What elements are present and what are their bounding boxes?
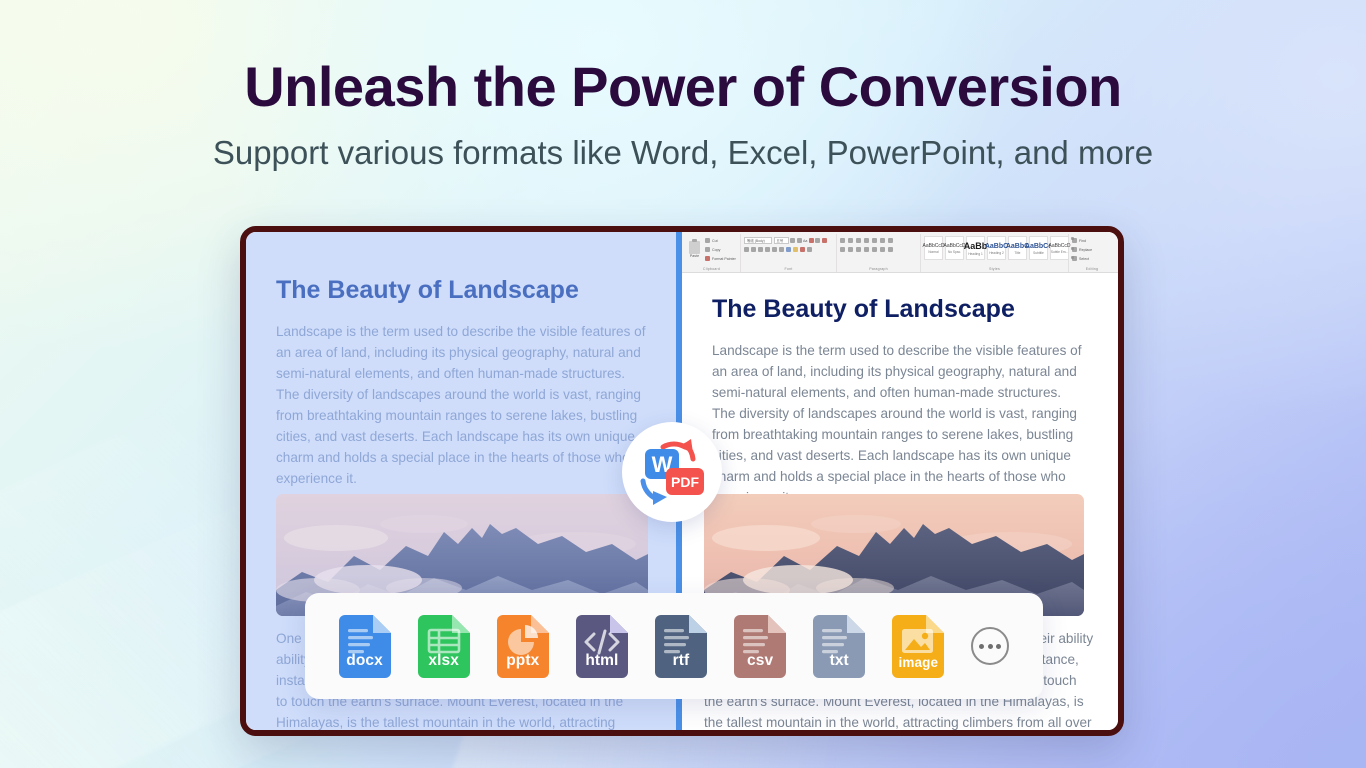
text-highlight-color-icon[interactable] — [793, 247, 798, 252]
increase-indent-icon[interactable] — [872, 238, 877, 243]
align-left-icon[interactable] — [840, 247, 845, 252]
select-button[interactable]: Select — [1072, 254, 1112, 263]
replace-icon — [1072, 247, 1077, 252]
copy-icon — [705, 247, 710, 252]
find-label: Find — [1079, 239, 1086, 243]
show-marks-icon[interactable] — [888, 238, 893, 243]
paste-button[interactable]: Paste — [686, 236, 703, 263]
format-icon-rtf[interactable]: rtf — [655, 615, 707, 678]
line-spacing-icon[interactable] — [872, 247, 877, 252]
paste-label: Paste — [690, 254, 699, 258]
style-name: Subtitle — [1033, 251, 1044, 255]
replace-label: Replace — [1079, 248, 1092, 252]
change-case-label[interactable]: Aa — [803, 239, 807, 243]
page-subtitle: Support various formats like Word, Excel… — [0, 135, 1366, 171]
style-name: Title — [1015, 251, 1021, 255]
grow-font-icon[interactable] — [790, 238, 795, 243]
format-label: image — [892, 655, 944, 670]
sort-icon[interactable] — [880, 238, 885, 243]
ribbon-group-label-clipboard: Clipboard — [683, 267, 740, 271]
numbering-icon[interactable] — [848, 238, 853, 243]
align-center-icon[interactable] — [848, 247, 853, 252]
ellipsis-dot — [996, 644, 1001, 649]
format-label: txt — [813, 652, 865, 670]
search-icon — [1072, 238, 1077, 243]
clear-formatting-icon[interactable] — [809, 238, 814, 243]
document-title-left: The Beauty of Landscape — [276, 276, 646, 305]
bold-icon[interactable] — [744, 247, 749, 252]
hero-section: Unleash the Power of Conversion Support … — [0, 0, 1366, 171]
format-icon-html[interactable]: html — [576, 615, 628, 678]
superscript-icon[interactable] — [779, 247, 784, 252]
format-icon-txt[interactable]: txt — [813, 615, 865, 678]
ellipsis-dot — [979, 644, 984, 649]
bullets-icon[interactable] — [840, 238, 845, 243]
document-paragraph-left: Landscape is the term used to describe t… — [276, 321, 646, 489]
format-label: rtf — [655, 652, 707, 670]
style-sample: AaBbCcD — [944, 244, 966, 249]
style-item-heading-2[interactable]: AaBbC Heading 2 — [987, 236, 1006, 260]
scissors-icon — [705, 238, 710, 243]
character-border-icon[interactable] — [822, 238, 827, 243]
format-icon-docx[interactable]: docx — [339, 615, 391, 678]
cut-button[interactable]: Cut — [705, 236, 736, 245]
ribbon-group-label-editing: Editing — [1069, 267, 1115, 271]
style-name: No Spac. — [948, 250, 961, 254]
copy-label: Copy — [712, 248, 720, 252]
format-icon-image[interactable]: image — [892, 615, 944, 678]
subscript-icon[interactable] — [772, 247, 777, 252]
shading-icon[interactable] — [880, 247, 885, 252]
find-button[interactable]: Find — [1072, 236, 1112, 245]
borders-icon[interactable] — [888, 247, 893, 252]
underline-icon[interactable] — [758, 247, 763, 252]
supported-formats-bar: docx xlsx pptx — [305, 593, 1043, 699]
format-painter-label: Format Painter — [712, 257, 736, 261]
style-sample: AaBbCcD — [923, 244, 945, 249]
style-item-heading-1[interactable]: AaBb Heading 1 — [966, 236, 985, 260]
font-color-icon[interactable] — [800, 247, 805, 252]
style-sample: AaBbCcD — [1049, 244, 1071, 249]
paste-icon — [689, 241, 700, 254]
cut-label: Cut — [712, 239, 718, 243]
more-formats-button[interactable] — [971, 627, 1009, 665]
justify-icon[interactable] — [864, 247, 869, 252]
style-item-normal[interactable]: AaBbCcD Normal — [924, 236, 943, 260]
shrink-font-icon[interactable] — [797, 238, 802, 243]
ribbon-group-label-font: Font — [741, 267, 836, 271]
style-name: Heading 2 — [989, 251, 1004, 255]
multilevel-list-icon[interactable] — [856, 238, 861, 243]
ribbon-group-styles: AaBbCcD Normal AaBbCcD No Spac. AaBb Hea… — [921, 234, 1069, 272]
style-name: Subtle Em... — [1051, 250, 1068, 254]
ellipsis-dot — [988, 644, 993, 649]
format-label: pptx — [497, 652, 549, 670]
style-item-no-spacing[interactable]: AaBbCcD No Spac. — [945, 236, 964, 260]
character-shading-icon[interactable] — [807, 247, 812, 252]
style-item-subtle-emphasis[interactable]: AaBbCcD Subtle Em... — [1050, 236, 1069, 260]
select-label: Select — [1079, 257, 1089, 261]
replace-button[interactable]: Replace — [1072, 245, 1112, 254]
format-icon-xlsx[interactable]: xlsx — [418, 615, 470, 678]
ribbon-group-label-styles: Styles — [921, 267, 1068, 271]
font-name-select[interactable]: 等线 (Body) — [744, 237, 772, 244]
style-name: Heading 1 — [968, 252, 983, 256]
svg-text:PDF: PDF — [671, 474, 699, 490]
select-icon — [1072, 256, 1077, 261]
style-name: Normal — [928, 250, 938, 254]
format-label: docx — [339, 652, 391, 670]
format-label: csv — [734, 652, 786, 670]
format-icon-pptx[interactable]: pptx — [497, 615, 549, 678]
copy-button[interactable]: Copy — [705, 245, 736, 254]
format-painter-button[interactable]: Format Painter — [705, 254, 736, 263]
ribbon-group-label-paragraph: Paragraph — [837, 267, 920, 271]
word-ribbon: Paste Cut Copy — [682, 232, 1118, 273]
text-effects-icon[interactable] — [786, 247, 791, 252]
format-icon-csv[interactable]: csv — [734, 615, 786, 678]
decrease-indent-icon[interactable] — [864, 238, 869, 243]
page-title: Unleash the Power of Conversion — [0, 58, 1366, 117]
phonetic-guide-icon[interactable] — [815, 238, 820, 243]
align-right-icon[interactable] — [856, 247, 861, 252]
italic-icon[interactable] — [751, 247, 756, 252]
paintbrush-icon — [705, 256, 710, 261]
ribbon-group-editing: Find Replace Select Editing — [1069, 234, 1115, 272]
document-paragraph-right: Landscape is the term used to describe t… — [712, 340, 1088, 508]
ribbon-group-clipboard: Paste Cut Copy — [683, 234, 741, 272]
font-size-select[interactable]: 五号 — [774, 237, 789, 244]
ribbon-group-font: 等线 (Body) 五号 Aa — [741, 234, 837, 272]
format-label: xlsx — [418, 652, 470, 670]
style-item-subtitle[interactable]: AaBbCc Subtitle — [1029, 236, 1048, 260]
strikethrough-icon[interactable] — [765, 247, 770, 252]
style-sample: AaBbC — [985, 243, 1008, 250]
format-label: html — [576, 652, 628, 670]
conversion-badge[interactable]: W PDF — [622, 422, 722, 522]
ribbon-group-paragraph: Paragraph — [837, 234, 921, 272]
document-title-right: The Beauty of Landscape — [712, 295, 1088, 324]
style-sample: AaBb — [964, 242, 988, 251]
